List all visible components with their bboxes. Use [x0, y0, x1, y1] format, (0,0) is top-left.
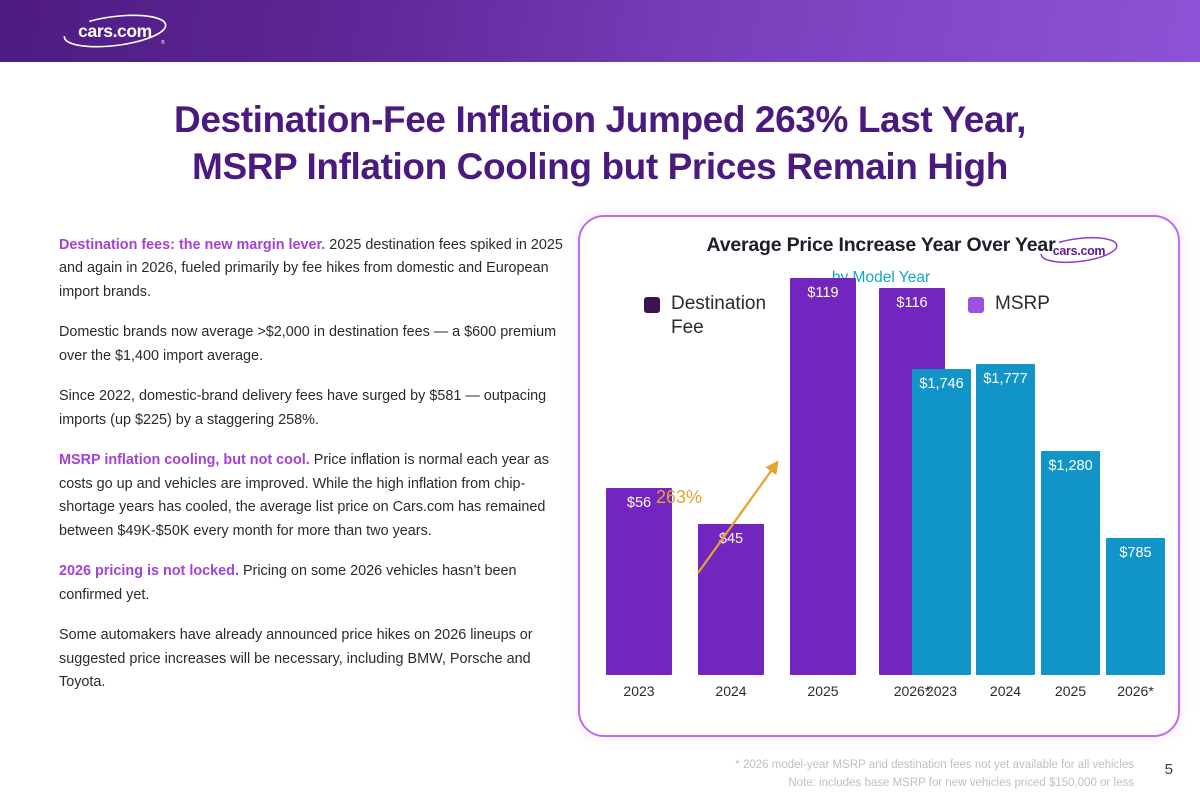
paragraph-6: Some automakers have already announced p…	[59, 624, 564, 694]
paragraph-3: Since 2022, domestic-brand delivery fees…	[59, 385, 564, 432]
bar-msrp-2024-rect: $1,777	[976, 364, 1035, 675]
paragraph-4-lead: MSRP inflation cooling, but not cool.	[59, 452, 310, 468]
bar-rect	[912, 369, 971, 675]
bar-rect	[606, 488, 672, 675]
xaxis-label-msrp-2025: 2025	[1041, 683, 1100, 699]
title-line-2: MSRP Inflation Cooling but Prices Remain…	[0, 143, 1200, 190]
page-title: Destination-Fee Inflation Jumped 263% La…	[0, 96, 1200, 191]
bar-destination-fee-2025: $119	[790, 278, 856, 675]
svg-text:cars.com: cars.com	[78, 21, 152, 41]
cars-com-logo: cars.com ®	[60, 14, 170, 48]
bar-value-label: $119	[790, 285, 856, 301]
bar-msrp-2023-rect: $1,746	[912, 369, 971, 675]
xaxis-label-msrp-2023: 2023	[912, 683, 971, 699]
chart-plot-area: $56 $45 $119 $116 $1,746 $1,77	[580, 217, 1182, 739]
chart-card: Average Price Increase Year Over Year ca…	[578, 215, 1180, 737]
paragraph-2: Domestic brands now average >$2,000 in d…	[59, 321, 564, 368]
bar-rect	[790, 278, 856, 675]
header-band: cars.com ®	[0, 0, 1200, 62]
bar-value-label: $1,746	[912, 376, 971, 392]
bar-msrp-2025-rect: $1,280	[1041, 451, 1100, 675]
bar-value-label: $45	[698, 531, 764, 547]
xaxis-label-dest-2024: 2024	[698, 683, 764, 699]
xaxis-label-msrp-2024: 2024	[976, 683, 1035, 699]
title-line-1: Destination-Fee Inflation Jumped 263% La…	[0, 96, 1200, 143]
page-number: 5	[1165, 761, 1173, 778]
annotation-label-263-percent: 263%	[656, 487, 702, 508]
paragraph-1-lead: Destination fees: the new margin lever.	[59, 237, 325, 253]
bar-rect	[976, 364, 1035, 675]
bar-value-label: $1,280	[1041, 458, 1100, 474]
paragraph-4: MSRP inflation cooling, but not cool. Pr…	[59, 449, 564, 543]
paragraph-5-lead: 2026 pricing is not locked.	[59, 563, 239, 579]
paragraph-3-body: Since 2022, domestic-brand delivery fees…	[59, 388, 546, 427]
bar-rect	[1041, 451, 1100, 675]
paragraph-2-body: Domestic brands now average >$2,000 in d…	[59, 324, 556, 363]
bar-destination-fee-2024: $45	[698, 524, 764, 675]
slide-page: cars.com ® Destination-Fee Inflation Jum…	[0, 0, 1200, 800]
bar-msrp-2026-rect: $785	[1106, 538, 1165, 675]
paragraph-6-body: Some automakers have already announced p…	[59, 627, 533, 690]
footnotes: * 2026 model-year MSRP and destination f…	[735, 757, 1134, 793]
xaxis-label-dest-2025: 2025	[790, 683, 856, 699]
xaxis-label-msrp-2026: 2026*	[1106, 683, 1165, 699]
bar-value-label: $1,777	[976, 371, 1035, 387]
svg-text:®: ®	[161, 39, 165, 46]
bar-value-label: $785	[1106, 545, 1165, 561]
xaxis-label-dest-2023: 2023	[606, 683, 672, 699]
bar-destination-fee-2023: $56	[606, 488, 672, 675]
footnote-2: Note: includes base MSRP for new vehicle…	[735, 775, 1134, 793]
paragraph-5: 2026 pricing is not locked. Pricing on s…	[59, 560, 564, 607]
paragraph-1: Destination fees: the new margin lever. …	[59, 234, 564, 304]
footnote-1: * 2026 model-year MSRP and destination f…	[735, 757, 1134, 775]
bar-value-label: $116	[879, 295, 945, 311]
left-text-column: Destination fees: the new margin lever. …	[59, 234, 564, 695]
